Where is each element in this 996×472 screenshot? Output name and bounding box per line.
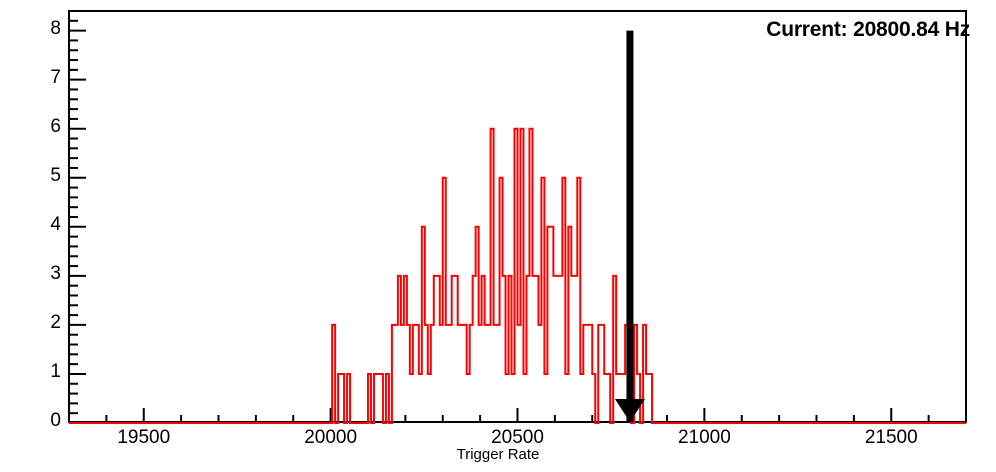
x-axis-ticks xyxy=(69,408,966,423)
y-tick-label: 5 xyxy=(33,165,61,187)
y-tick-label: 2 xyxy=(33,312,61,334)
histogram-series xyxy=(69,129,966,423)
current-value-marker[interactable] xyxy=(615,31,645,422)
y-tick-label: 4 xyxy=(33,214,61,236)
chart-root: 012345678 1950020000205002100021500 Trig… xyxy=(0,0,996,472)
y-tick-label: 3 xyxy=(33,263,61,285)
y-axis-ticks xyxy=(69,21,86,423)
current-value-annotation: Current: 20800.84 Hz xyxy=(766,18,970,42)
x-axis-title: Trigger Rate xyxy=(0,446,996,463)
y-tick-label: 6 xyxy=(33,116,61,138)
y-tick-label: 7 xyxy=(33,67,61,89)
chart-canvas xyxy=(0,0,996,472)
y-tick-label: 0 xyxy=(33,410,61,432)
y-tick-label: 1 xyxy=(33,361,61,383)
y-tick-label: 8 xyxy=(33,18,61,40)
